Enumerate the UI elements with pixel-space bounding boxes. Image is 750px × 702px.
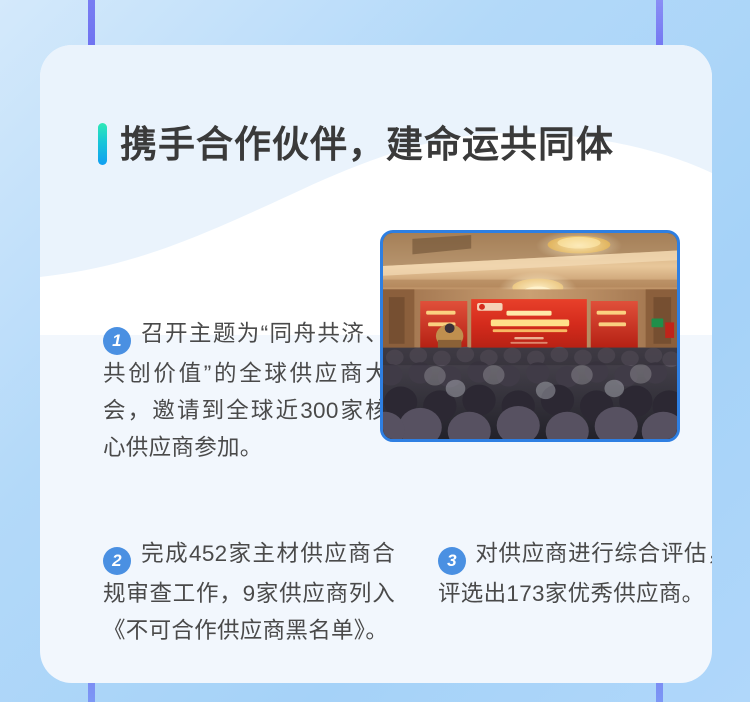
- list-item: 2完成452家主材供应商合规审查工作，9家供应商列入《不可合作供应商黑名单》。: [103, 512, 395, 671]
- list-item-text: 3对供应商进行综合评估，评选出173家优秀供应商。: [438, 535, 712, 612]
- list-item-body: 召开主题为“同舟共济、共创价值”的全球供应商大会，邀请到全球近300家核心供应商…: [103, 321, 388, 460]
- list-item-number-badge: 2: [103, 547, 131, 575]
- infographic-stage: 携手合作伙伴，建命运共同体 1召开主题为“同舟共济、共创价值”的全球供应商大会，…: [0, 0, 750, 702]
- title-label: 携手合作伙伴，建命运共同体: [120, 126, 614, 163]
- list-item-text: 2完成452家主材供应商合规审查工作，9家供应商列入《不可合作供应商黑名单》。: [103, 535, 395, 649]
- list-item-body: 对供应商进行综合评估，评选出173家优秀供应商。: [438, 541, 712, 606]
- list-item-body: 完成452家主材供应商合规审查工作，9家供应商列入《不可合作供应商黑名单》。: [103, 541, 395, 643]
- conference-photo-image: [383, 233, 677, 439]
- conference-photo: [380, 230, 680, 442]
- list-item-number-badge: 3: [438, 547, 466, 575]
- list-item-number-badge: 1: [103, 327, 131, 355]
- list-item: 3对供应商进行综合评估，评选出173家优秀供应商。: [438, 512, 712, 634]
- list-item: 1召开主题为“同舟共济、共创价值”的全球供应商大会，邀请到全球近300家核心供应…: [103, 292, 388, 488]
- title-accent-bar: [98, 123, 107, 165]
- page-title: 携手合作伙伴，建命运共同体: [98, 123, 614, 165]
- list-item-text: 1召开主题为“同舟共济、共创价值”的全球供应商大会，邀请到全球近300家核心供应…: [103, 315, 388, 466]
